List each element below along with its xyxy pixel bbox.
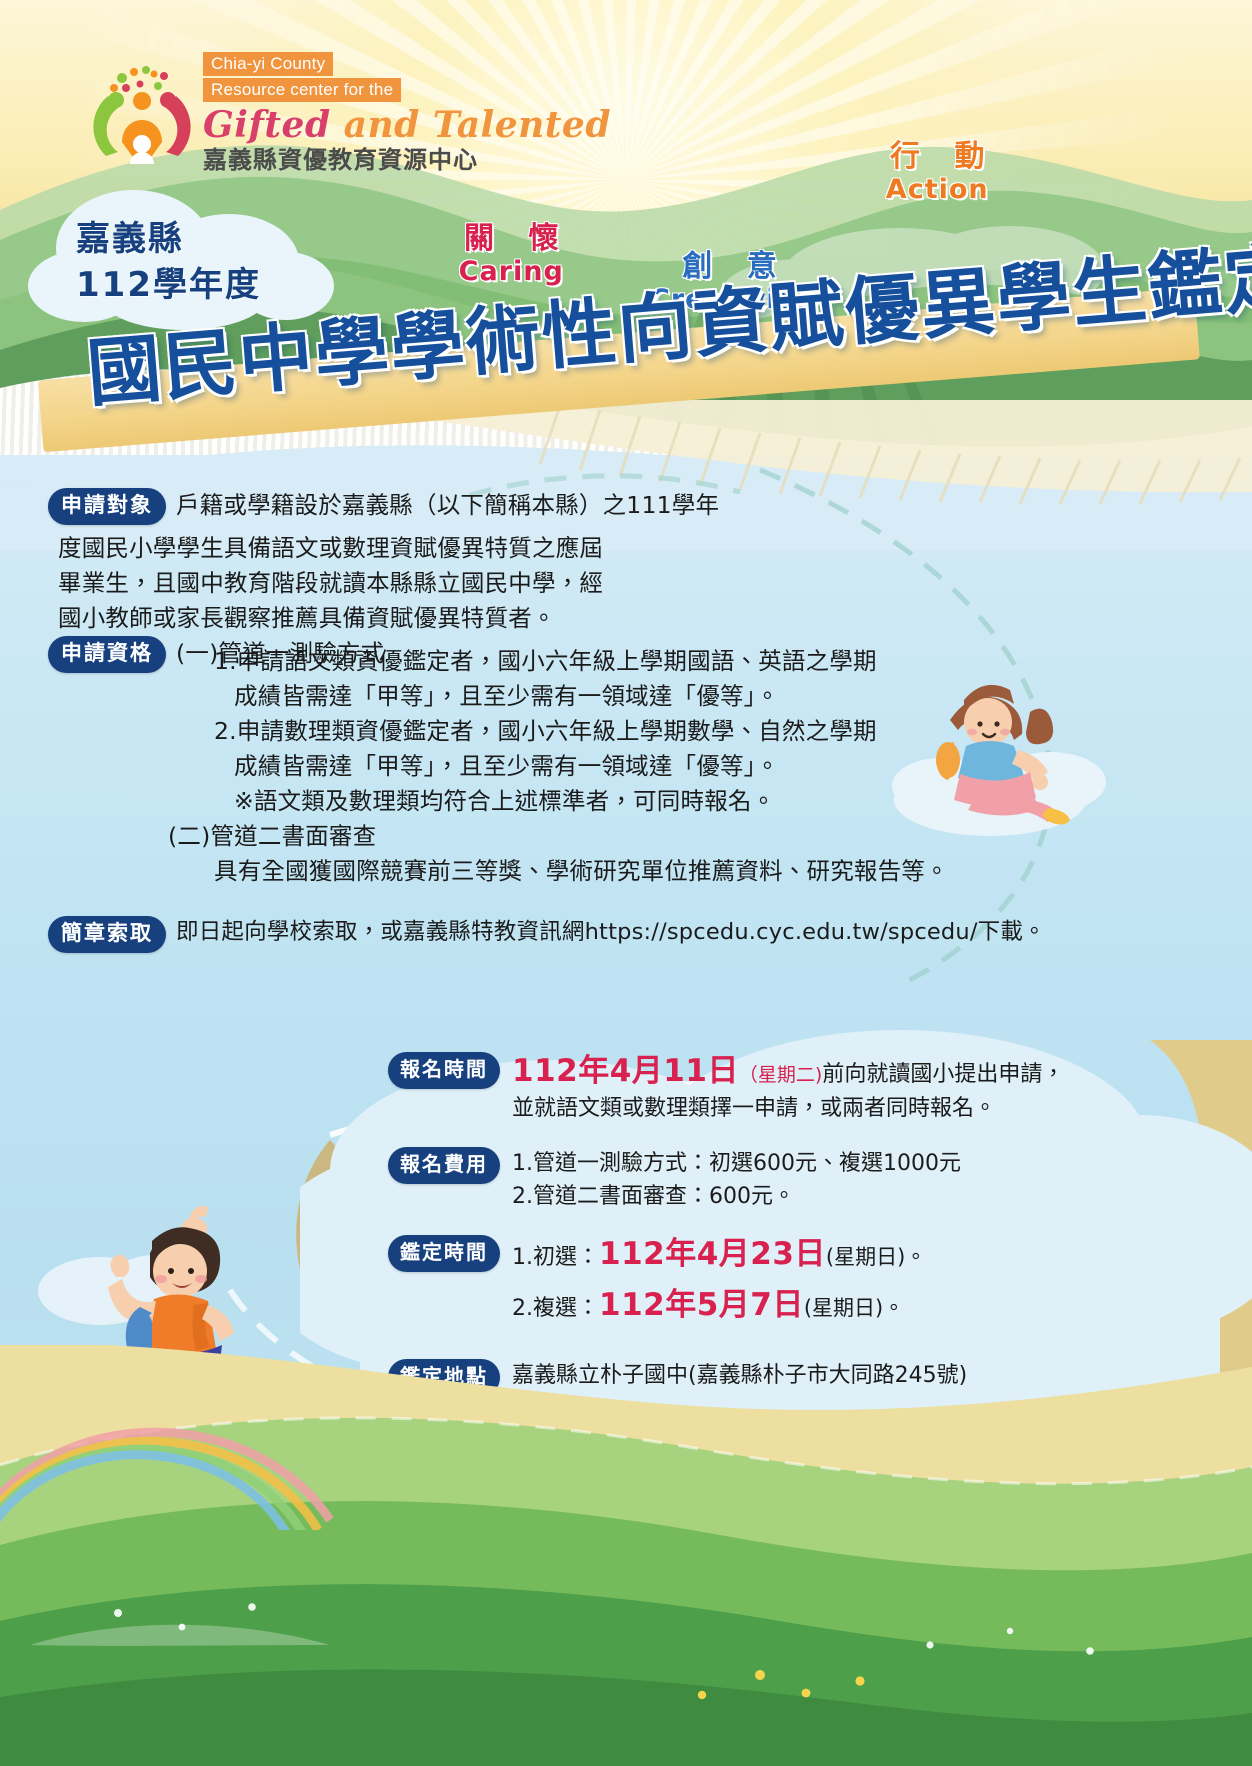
logo-tag-county: Chia-yi County bbox=[203, 52, 333, 76]
label-exam-time: 鑑定時間 bbox=[388, 1235, 500, 1272]
logo: Chia-yi County Resource center for the G… bbox=[88, 52, 498, 182]
qualify-line-8: 具有全國獲國際競賽前三等獎、學術研究單位推薦資料、研究報告等。 bbox=[168, 854, 1108, 889]
keyword-action-en: Action bbox=[878, 174, 996, 206]
exam-time-row1: 1.初選：112年4月23日(星期日)。 bbox=[512, 1235, 1208, 1274]
label-target: 申請對象 bbox=[48, 488, 166, 525]
signup-time-line1: 112年4月11日（星期二)前向就讀國小提出申請， bbox=[512, 1052, 1208, 1092]
info-row-signup-time: 報名時間 112年4月11日（星期二)前向就讀國小提出申請， 並就語文類或數理類… bbox=[388, 1052, 1208, 1125]
signup-time-line2: 並就語文類或數理類擇一申請，或兩者同時報名。 bbox=[512, 1092, 1208, 1125]
logo-title-en: Gifted and Talented bbox=[203, 105, 503, 145]
signup-time-text: 112年4月11日（星期二)前向就讀國小提出申請， 並就語文類或數理類擇一申請，… bbox=[500, 1052, 1208, 1125]
target-line-1: 戶籍或學籍設於嘉義縣（以下簡稱本縣）之111學年 bbox=[176, 488, 748, 523]
signup-fee-line2: 2.管道二書面審查：600元。 bbox=[512, 1180, 1208, 1213]
girl-illustration bbox=[880, 650, 1120, 840]
label-brochure: 簡章索取 bbox=[48, 916, 166, 953]
section-brochure-row: 簡章索取 即日起向學校索取，或嘉義縣特教資訊網https://spcedu.cy… bbox=[48, 916, 1158, 953]
exam-time-row2-tail: (星期日)。 bbox=[804, 1292, 904, 1325]
rainbow-arc bbox=[0, 1330, 420, 1530]
exam-time-row1-date: 112年4月23日 bbox=[599, 1235, 826, 1273]
section-brochure-text: 即日起向學校索取，或嘉義縣特教資訊網https://spcedu.cyc.edu… bbox=[166, 916, 1158, 948]
signup-time-after: 前向就讀國小提出申請， bbox=[822, 1062, 1064, 1087]
section-target-row: 申請對象 戶籍或學籍設於嘉義縣（以下簡稱本縣）之111學年 bbox=[48, 488, 748, 525]
exam-time-row1-lead: 1.初選： bbox=[512, 1241, 599, 1274]
signup-fee-text: 1.管道一測驗方式：初選600元、複選1000元 2.管道二書面審查：600元。 bbox=[500, 1147, 1208, 1213]
logo-title-zh: 嘉義縣資優教育資源中心 bbox=[203, 145, 503, 175]
label-signup-fee: 報名費用 bbox=[388, 1147, 500, 1184]
logo-title-en-gifted: Gifted bbox=[203, 104, 344, 146]
label-qualify: 申請資格 bbox=[48, 636, 166, 673]
target-line-4: 國小教師或家長觀察推薦具備資賦優異特質者。 bbox=[58, 601, 748, 636]
signup-time-date: 112年4月11日 bbox=[512, 1053, 739, 1089]
exam-time-row2-date: 112年5月7日 bbox=[599, 1286, 804, 1324]
label-signup-time: 報名時間 bbox=[388, 1052, 500, 1089]
poster-canvas: Chia-yi County Resource center for the G… bbox=[0, 0, 1252, 1766]
logo-title-en-talented: and Talented bbox=[344, 104, 611, 146]
logo-mark-icon bbox=[88, 60, 196, 168]
info-row-exam-time: 鑑定時間 1.初選：112年4月23日(星期日)。 2.複選：112年5月7日(… bbox=[388, 1235, 1208, 1337]
section-brochure: 簡章索取 即日起向學校索取，或嘉義縣特教資訊網https://spcedu.cy… bbox=[48, 916, 1158, 959]
logo-tag-resource: Resource center for the bbox=[203, 78, 401, 102]
signup-fee-line1: 1.管道一測驗方式：初選600元、複選1000元 bbox=[512, 1147, 1208, 1180]
target-line-2: 度國民小學學生具備語文或數理資賦優異特質之應屆 bbox=[58, 531, 748, 566]
info-row-signup-fee: 報名費用 1.管道一測驗方式：初選600元、複選1000元 2.管道二書面審查：… bbox=[388, 1147, 1208, 1213]
section-target: 申請對象 戶籍或學籍設於嘉義縣（以下簡稱本縣）之111學年 度國民小學學生具備語… bbox=[48, 488, 748, 636]
target-line-3: 畢業生，且國中教育階段就讀本縣縣立國民中學，經 bbox=[58, 566, 748, 601]
section-target-text: 戶籍或學籍設於嘉義縣（以下簡稱本縣）之111學年 bbox=[166, 488, 748, 523]
keyword-caring-cn: 關 懷 bbox=[452, 222, 570, 256]
section-target-rest: 度國民小學學生具備語文或數理資賦優異特質之應屆 畢業生，且國中教育階段就讀本縣縣… bbox=[48, 531, 748, 636]
logo-text-block: Chia-yi County Resource center for the G… bbox=[203, 52, 503, 175]
signup-time-weekday: （星期二) bbox=[739, 1064, 822, 1086]
exam-time-row2-lead: 2.複選： bbox=[512, 1292, 599, 1325]
exam-time-text: 1.初選：112年4月23日(星期日)。 2.複選：112年5月7日(星期日)。 bbox=[500, 1235, 1208, 1337]
exam-time-row1-tail: (星期日)。 bbox=[826, 1241, 926, 1274]
keyword-action: 行 動 Action bbox=[878, 140, 996, 206]
year-cloud-line1: 嘉義縣 bbox=[76, 216, 326, 262]
exam-time-row2: 2.複選：112年5月7日(星期日)。 bbox=[512, 1286, 1208, 1325]
keyword-action-cn: 行 動 bbox=[878, 140, 996, 174]
